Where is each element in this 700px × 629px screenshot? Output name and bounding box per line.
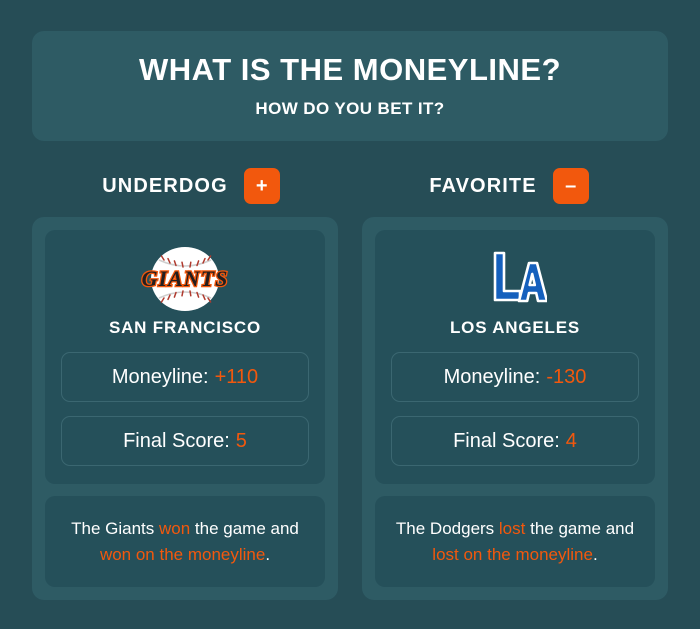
final-score-label-favorite: Final Score: xyxy=(453,430,560,453)
moneyline-pill-underdog: Moneyline: +110 xyxy=(61,352,309,402)
team-card-favorite: LOS ANGELES Moneyline: -130 Final Score:… xyxy=(375,230,655,484)
final-score-value-favorite: 4 xyxy=(566,430,577,453)
final-score-value-underdog: 5 xyxy=(236,430,247,453)
heading-favorite: FAVORITE – xyxy=(350,160,668,212)
outcome-part3-favorite: . xyxy=(593,545,598,564)
outcome-part1-underdog: The Giants xyxy=(71,519,159,538)
plus-icon: + xyxy=(244,168,280,204)
heading-underdog: UNDERDOG + xyxy=(32,160,350,212)
moneyline-value-favorite: -130 xyxy=(546,366,586,389)
team-columns: GIANTS SAN FRANCISCO Moneyline: +110 Fin… xyxy=(32,217,668,600)
outcome-card-favorite: The Dodgers lost the game and lost on th… xyxy=(375,496,655,587)
outcome-text-favorite: The Dodgers lost the game and lost on th… xyxy=(389,516,641,567)
column-headings: UNDERDOG + FAVORITE – xyxy=(32,160,668,212)
page-subtitle: HOW DO YOU BET IT? xyxy=(255,99,444,119)
title-panel: WHAT IS THE MONEYLINE? HOW DO YOU BET IT… xyxy=(32,31,668,141)
dodgers-la-logo xyxy=(483,244,547,314)
final-score-pill-underdog: Final Score: 5 xyxy=(61,416,309,466)
outcome-text-underdog: The Giants won the game and won on the m… xyxy=(59,516,311,567)
moneyline-label-underdog: Moneyline: xyxy=(112,366,209,389)
final-score-label-underdog: Final Score: xyxy=(123,430,230,453)
moneyline-label-favorite: Moneyline: xyxy=(444,366,541,389)
moneyline-value-underdog: +110 xyxy=(215,366,259,389)
column-favorite: LOS ANGELES Moneyline: -130 Final Score:… xyxy=(362,217,668,600)
outcome-highlight1-underdog: won xyxy=(159,519,190,538)
giants-baseball-logo: GIANTS xyxy=(137,244,233,314)
outcome-highlight2-underdog: won on the moneyline xyxy=(100,545,265,564)
heading-label-underdog: UNDERDOG xyxy=(102,175,227,198)
outcome-highlight1-favorite: lost xyxy=(499,519,525,538)
outcome-part2-favorite: the game and xyxy=(525,519,634,538)
outcome-highlight2-favorite: lost on the moneyline xyxy=(432,545,593,564)
team-card-underdog: GIANTS SAN FRANCISCO Moneyline: +110 Fin… xyxy=(45,230,325,484)
outcome-part1-favorite: The Dodgers xyxy=(396,519,499,538)
heading-label-favorite: FAVORITE xyxy=(429,175,536,198)
outcome-part3-underdog: . xyxy=(265,545,270,564)
team-name-underdog: SAN FRANCISCO xyxy=(109,318,261,338)
team-name-favorite: LOS ANGELES xyxy=(450,318,580,338)
moneyline-pill-favorite: Moneyline: -130 xyxy=(391,352,639,402)
column-underdog: GIANTS SAN FRANCISCO Moneyline: +110 Fin… xyxy=(32,217,338,600)
outcome-card-underdog: The Giants won the game and won on the m… xyxy=(45,496,325,587)
outcome-part2-underdog: the game and xyxy=(190,519,299,538)
minus-icon: – xyxy=(553,168,589,204)
giants-wordmark: GIANTS xyxy=(142,266,229,291)
final-score-pill-favorite: Final Score: 4 xyxy=(391,416,639,466)
page-title: WHAT IS THE MONEYLINE? xyxy=(139,53,561,87)
